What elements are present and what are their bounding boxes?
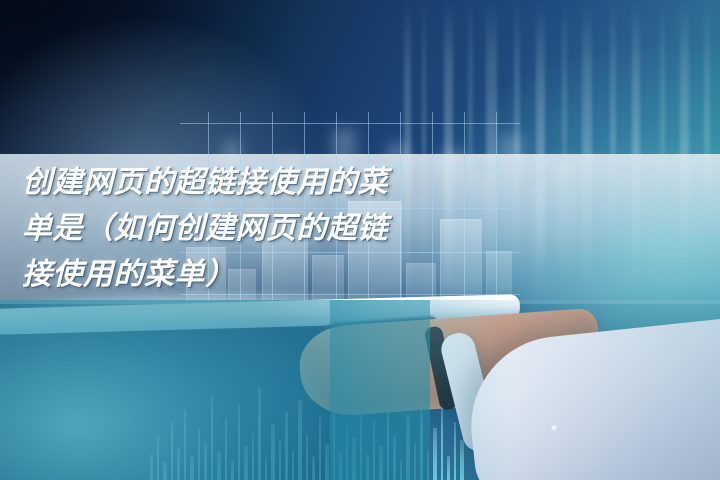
headline-text-block: 创建网页的超链接使用的菜 单是（如何创建网页的超链 接使用的菜单） bbox=[22, 160, 462, 298]
headline-line-1: 创建网页的超链接使用的菜 bbox=[22, 160, 462, 206]
headline-line-2: 单是（如何创建网页的超链 bbox=[22, 206, 462, 252]
banner-image: 创建网页的超链接使用的菜 单是（如何创建网页的超链 接使用的菜单） bbox=[0, 0, 720, 480]
teal-foreground-fade bbox=[330, 300, 510, 480]
headline-line-3: 接使用的菜单） bbox=[22, 252, 462, 298]
